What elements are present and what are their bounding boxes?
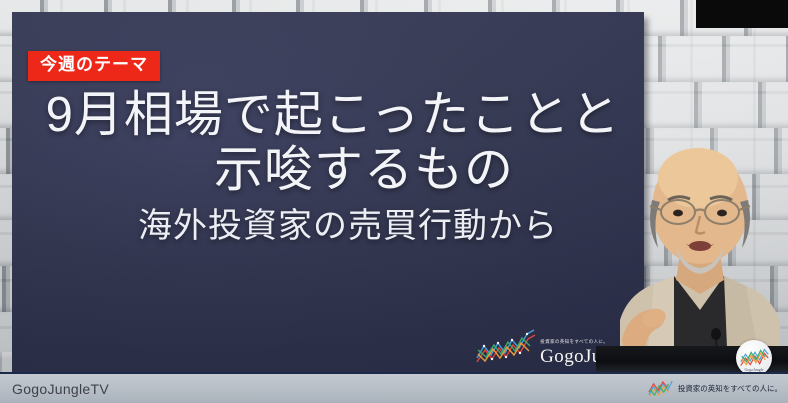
slide-subtitle: 海外投資家の売買行動から bbox=[12, 206, 644, 247]
player-bottom-bar: GogoJungleTV 投資家の英知をすべての人に。 bbox=[0, 372, 788, 403]
brand-tagline-block: 投資家の英知をすべての人に。 bbox=[648, 380, 788, 397]
slide-title-block: 9月相場で起こったことと 示唆するもの 海外投資家の売買行動から bbox=[12, 88, 644, 247]
gogojungle-badge-icon: GogoJungle bbox=[736, 340, 772, 376]
video-player-frame: 今週のテーマ 9月相場で起こったことと 示唆するもの 海外投資家の売買行動から bbox=[0, 0, 788, 403]
slide-title-line-2: 示唆するもの bbox=[12, 143, 644, 199]
brand-tagline-label: 投資家の英知をすべての人に。 bbox=[678, 383, 782, 394]
camera-vignette-strip bbox=[696, 0, 788, 28]
slide-title-line-1: 9月相場で起こったことと bbox=[12, 88, 644, 143]
channel-name-label: GogoJungleTV bbox=[0, 381, 109, 397]
zigzag-chart-icon bbox=[648, 380, 674, 397]
zigzag-chart-icon bbox=[475, 328, 537, 366]
presentation-slide: 今週のテーマ 9月相場で起こったことと 示唆するもの 海外投資家の売買行動から bbox=[12, 12, 644, 372]
theme-badge: 今週のテーマ bbox=[28, 51, 160, 81]
slide-brand-tagline: 投資家の英知をすべての人に。 bbox=[540, 340, 636, 345]
